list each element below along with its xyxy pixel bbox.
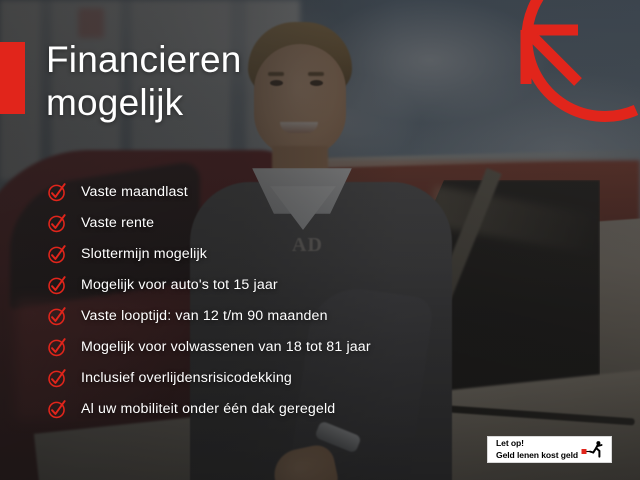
check-circle-icon — [46, 398, 68, 420]
check-circle-icon — [46, 367, 68, 389]
headline-line-1: Financieren — [46, 39, 242, 80]
list-item-label: Al uw mobiliteit onder één dak geregeld — [81, 401, 335, 417]
list-item: Inclusief overlijdensrisicodekking — [46, 363, 640, 394]
list-item: Al uw mobiliteit onder één dak geregeld — [46, 394, 640, 425]
person-pulling-weight-icon — [581, 440, 605, 460]
list-item-label: Slottermijn mogelijk — [81, 246, 207, 262]
list-item-label: Vaste looptijd: van 12 t/m 90 maanden — [81, 308, 328, 324]
feature-list: Vaste maandlast Vaste rente Slottermijn … — [46, 177, 640, 425]
list-item: Mogelijk voor auto's tot 15 jaar — [46, 270, 640, 301]
list-item: Slottermijn mogelijk — [46, 239, 640, 270]
check-circle-icon — [46, 181, 68, 203]
list-item-label: Mogelijk voor volwassenen van 18 tot 81 … — [81, 339, 371, 355]
warning-text: Let op! Geld lenen kost geld — [496, 438, 578, 461]
warning-line-2: Geld lenen kost geld — [496, 450, 578, 462]
list-item: Vaste rente — [46, 208, 640, 239]
check-circle-icon — [46, 305, 68, 327]
headline-line-2: mogelijk — [46, 82, 183, 123]
check-circle-icon — [46, 336, 68, 358]
list-item-label: Vaste rente — [81, 215, 154, 231]
list-item-label: Vaste maandlast — [81, 184, 188, 200]
check-circle-icon — [46, 243, 68, 265]
list-item-label: Inclusief overlijdensrisicodekking — [81, 370, 292, 386]
list-item: Vaste maandlast — [46, 177, 640, 208]
list-item: Vaste looptijd: van 12 t/m 90 maanden — [46, 301, 640, 332]
status-badge: Let op! Geld lenen kost geld — [487, 436, 612, 463]
list-item: Mogelijk voor volwassenen van 18 tot 81 … — [46, 332, 640, 363]
check-circle-icon — [46, 212, 68, 234]
banner-content: Financieren mogelijk Vaste maandlast Vas… — [0, 0, 640, 480]
financing-promo-banner: AD Financieren mogelijk — [0, 0, 640, 480]
list-item-label: Mogelijk voor auto's tot 15 jaar — [81, 277, 278, 293]
check-circle-icon — [46, 274, 68, 296]
warning-line-1: Let op! — [496, 438, 578, 450]
page-title: Financieren mogelijk — [46, 38, 386, 125]
